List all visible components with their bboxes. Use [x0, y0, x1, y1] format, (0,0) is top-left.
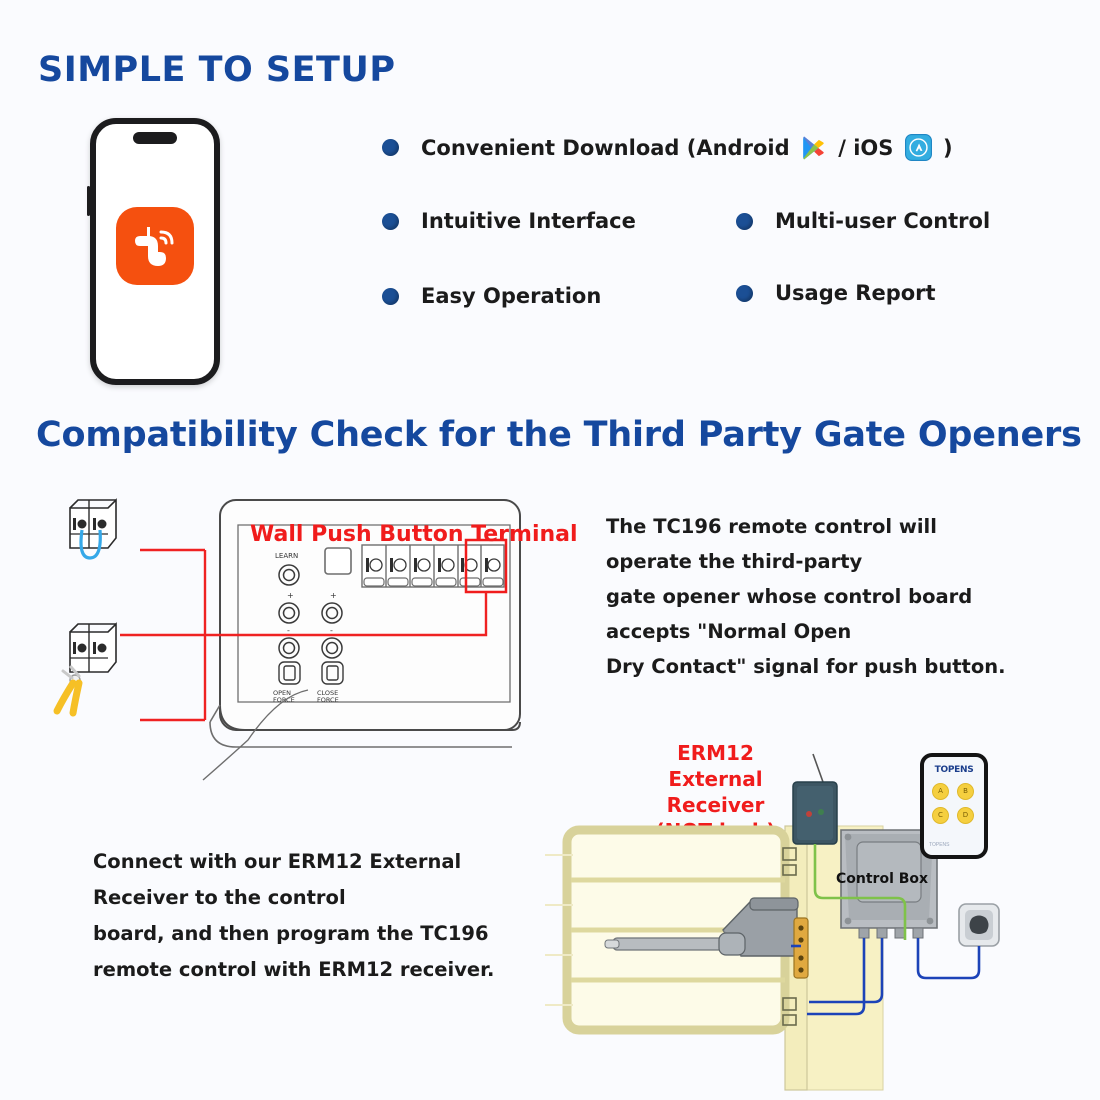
svg-text:-: -: [287, 626, 290, 635]
remote-button-c[interactable]: C: [932, 807, 949, 824]
app-store-icon[interactable]: [905, 134, 932, 161]
paragraph-line: operate the third-party: [606, 544, 1026, 579]
remote-button-d[interactable]: D: [957, 807, 974, 824]
remote-button-grid: A B C D: [932, 783, 972, 824]
feature-convenient-download: Convenient Download (Android / iOS ): [382, 134, 953, 161]
feature-label-easy: Easy Operation: [421, 284, 601, 308]
paragraph-line: accepts "Normal Open: [606, 614, 1026, 649]
actuator-bracket: [794, 918, 808, 978]
paragraph-erm12-connect: Connect with our ERM12 External Receiver…: [93, 844, 543, 988]
tuya-logo-icon: [116, 207, 194, 285]
wire-cutter-icon: [57, 667, 80, 713]
phone-side-button: [87, 186, 90, 216]
feature-usage-report: Usage Report: [736, 281, 936, 305]
topens-app-phone: TOPENS A B C D TOPENS: [920, 753, 988, 859]
phone-notch: [133, 132, 177, 144]
feature-intuitive-interface: Intuitive Interface: [382, 209, 636, 233]
tuya-app-phone: [90, 118, 220, 385]
page-title-simple-to-setup: SIMPLE TO SETUP: [38, 50, 395, 90]
paragraph-line: The TC196 remote control will: [606, 509, 1026, 544]
bullet-dot-icon: [382, 288, 399, 305]
svg-text:FORCE: FORCE: [273, 696, 295, 704]
svg-text:FORCE: FORCE: [317, 696, 339, 704]
feature-text-mid: / iOS: [838, 136, 893, 160]
paragraph-line: Receiver to the control: [93, 880, 543, 916]
remote-button-b[interactable]: B: [957, 783, 974, 800]
paragraph-line: Connect with our ERM12 External: [93, 844, 543, 880]
paragraph-line: Dry Contact" signal for push button.: [606, 649, 1026, 684]
svg-text:+: +: [330, 591, 337, 600]
google-play-icon[interactable]: [801, 135, 827, 161]
label-control-box: Control Box: [836, 871, 928, 887]
bullet-dot-icon: [382, 213, 399, 230]
feature-label-download: Convenient Download (Android / iOS ): [421, 134, 953, 161]
paragraph-line: board, and then program the TC196: [93, 916, 543, 952]
svg-text:-: -: [330, 626, 333, 635]
section-heading-compatibility: Compatibility Check for the Third Party …: [36, 415, 1082, 455]
svg-text:+: +: [287, 591, 294, 600]
board-label-learn: LEARN: [275, 552, 298, 560]
feature-text-after: ): [943, 136, 953, 160]
paragraph-line: gate opener whose control board: [606, 579, 1026, 614]
paragraph-line: remote control with ERM12 receiver.: [93, 952, 543, 988]
terminal-block-jumpered: [70, 500, 116, 558]
topens-brand-label: TOPENS: [924, 765, 984, 775]
feature-label-multiuser: Multi-user Control: [775, 209, 990, 233]
topens-phone-footer: TOPENS: [929, 842, 949, 848]
feature-label-intuitive: Intuitive Interface: [421, 209, 636, 233]
bullet-dot-icon: [736, 285, 753, 302]
bullet-dot-icon: [736, 213, 753, 230]
paragraph-tc196-compatibility: The TC196 remote control will operate th…: [606, 509, 1026, 684]
remote-button-a[interactable]: A: [932, 783, 949, 800]
tuya-t-glyph: [132, 224, 176, 270]
feature-label-usage: Usage Report: [775, 281, 936, 305]
power-outlet: [959, 904, 999, 946]
bullet-dot-icon: [382, 139, 399, 156]
terminal-block-cut: [57, 624, 116, 713]
feature-text-before: Convenient Download (Android: [421, 136, 790, 160]
feature-multi-user-control: Multi-user Control: [736, 209, 990, 233]
board-callout-wall-push-button-terminal: Wall Push Button Terminal: [250, 522, 578, 547]
feature-easy-operation: Easy Operation: [382, 284, 601, 308]
